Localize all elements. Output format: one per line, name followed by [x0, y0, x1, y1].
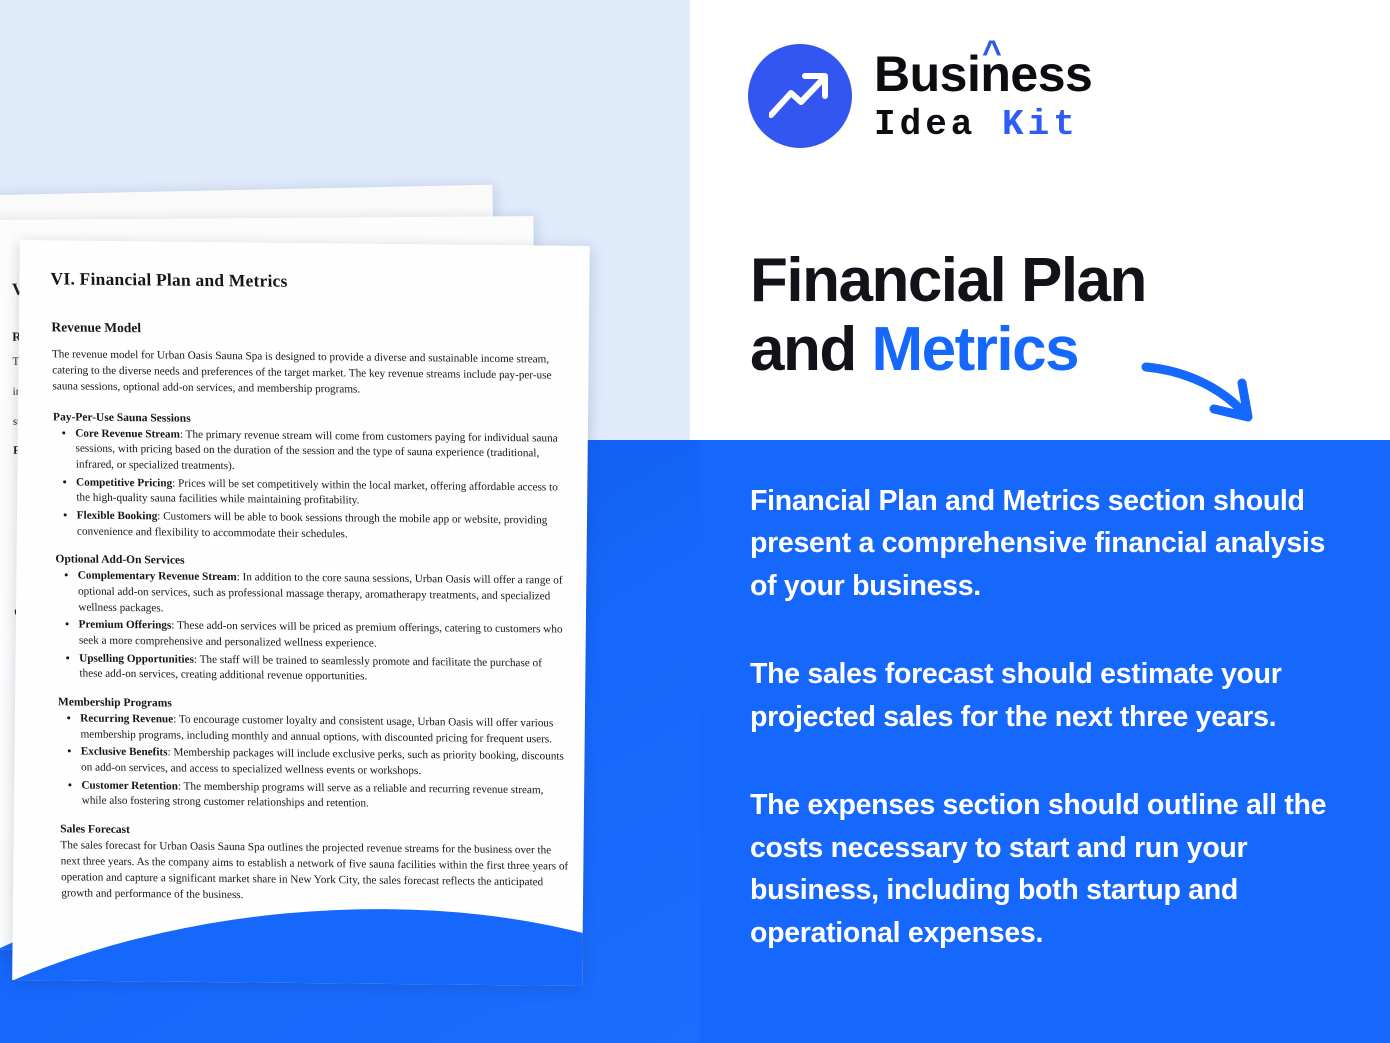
document-group-heading-0: Pay-Per-Use Sauna Sessions — [53, 411, 563, 428]
slide-canvas: VI. Re The VI. Re The inc stre Pay Op M … — [0, 0, 1390, 1043]
list-item: Flexible Booking: Customers will be able… — [77, 509, 566, 545]
list-item: Competitive Pricing: Prices will be set … — [76, 475, 565, 511]
document-bullet-list-1: Complementary Revenue Stream: In additio… — [56, 569, 568, 688]
bullet-term: Exclusive Benefits — [81, 746, 168, 759]
trending-up-chart-icon — [769, 65, 831, 127]
bullet-term: Upselling Opportunities — [79, 652, 194, 665]
logo-caret-accent-icon: ^ — [982, 36, 1001, 70]
curved-arrow-down-right-icon — [1140, 355, 1280, 435]
document-bullet-list-0: Core Revenue Stream: The primary revenue… — [53, 426, 565, 545]
document-section-heading: Revenue Model — [51, 319, 561, 340]
document-content: VI. Financial Plan and Metrics Revenue M… — [20, 240, 590, 986]
logo-wordmark: Business ^ Idea Kit — [874, 49, 1092, 143]
logo-kit-text: Kit — [1002, 104, 1079, 145]
bullet-term: Premium Offerings — [79, 619, 172, 632]
description-block: Financial Plan and Metrics section shoul… — [750, 480, 1350, 954]
description-paragraph-2: The sales forecast should estimate your … — [750, 653, 1350, 738]
description-paragraph-3: The expenses section should outline all … — [750, 784, 1350, 954]
paper-sheet-front: VI. Financial Plan and Metrics Revenue M… — [12, 240, 590, 986]
bullet-term: Recurring Revenue — [80, 713, 173, 726]
bullet-term: Core Revenue Stream — [75, 427, 180, 440]
list-item: Exclusive Benefits: Membership packages … — [81, 745, 570, 781]
description-paragraph-1: Financial Plan and Metrics section shoul… — [750, 480, 1350, 607]
bullet-term: Competitive Pricing — [76, 476, 172, 489]
bullet-term: Customer Retention — [81, 779, 178, 792]
document-group-heading-2: Membership Programs — [58, 696, 568, 713]
bullet-term: Flexible Booking — [77, 510, 158, 523]
list-item: Complementary Revenue Stream: In additio… — [78, 569, 567, 621]
document-forecast-paragraph: The sales forecast for Urban Oasis Sauna… — [60, 838, 571, 907]
list-item: Core Revenue Stream: The primary revenue… — [75, 426, 564, 478]
logo-line-business: Business ^ — [874, 49, 1092, 99]
document-intro-paragraph: The revenue model for Urban Oasis Sauna … — [52, 347, 563, 400]
headline-line-2-prefix: and — [750, 315, 871, 384]
document-title: VI. Financial Plan and Metrics — [50, 268, 561, 294]
list-item: Recurring Revenue: To encourage customer… — [80, 712, 569, 748]
list-item: Premium Offerings: These add-on services… — [78, 618, 567, 654]
document-group-heading-1: Optional Add-On Services — [55, 554, 565, 571]
logo-idea-text: Idea — [874, 104, 976, 145]
list-item: Upselling Opportunities: The staff will … — [79, 651, 568, 687]
list-item: Customer Retention: The membership progr… — [81, 778, 570, 814]
brand-logo: Business ^ Idea Kit — [748, 44, 1092, 148]
document-paper-stack: VI. Re The VI. Re The inc stre Pay Op M … — [0, 150, 750, 980]
logo-mark-circle — [748, 44, 852, 148]
headline-line-2-accent: Metrics — [871, 315, 1078, 384]
logo-line-idea-kit: Idea Kit — [874, 107, 1092, 143]
document-forecast-heading: Sales Forecast — [60, 823, 570, 840]
headline-line-1: Financial Plan — [750, 246, 1146, 315]
bullet-term: Complementary Revenue Stream — [78, 570, 237, 584]
document-bullet-list-2: Recurring Revenue: To encourage customer… — [58, 711, 570, 814]
